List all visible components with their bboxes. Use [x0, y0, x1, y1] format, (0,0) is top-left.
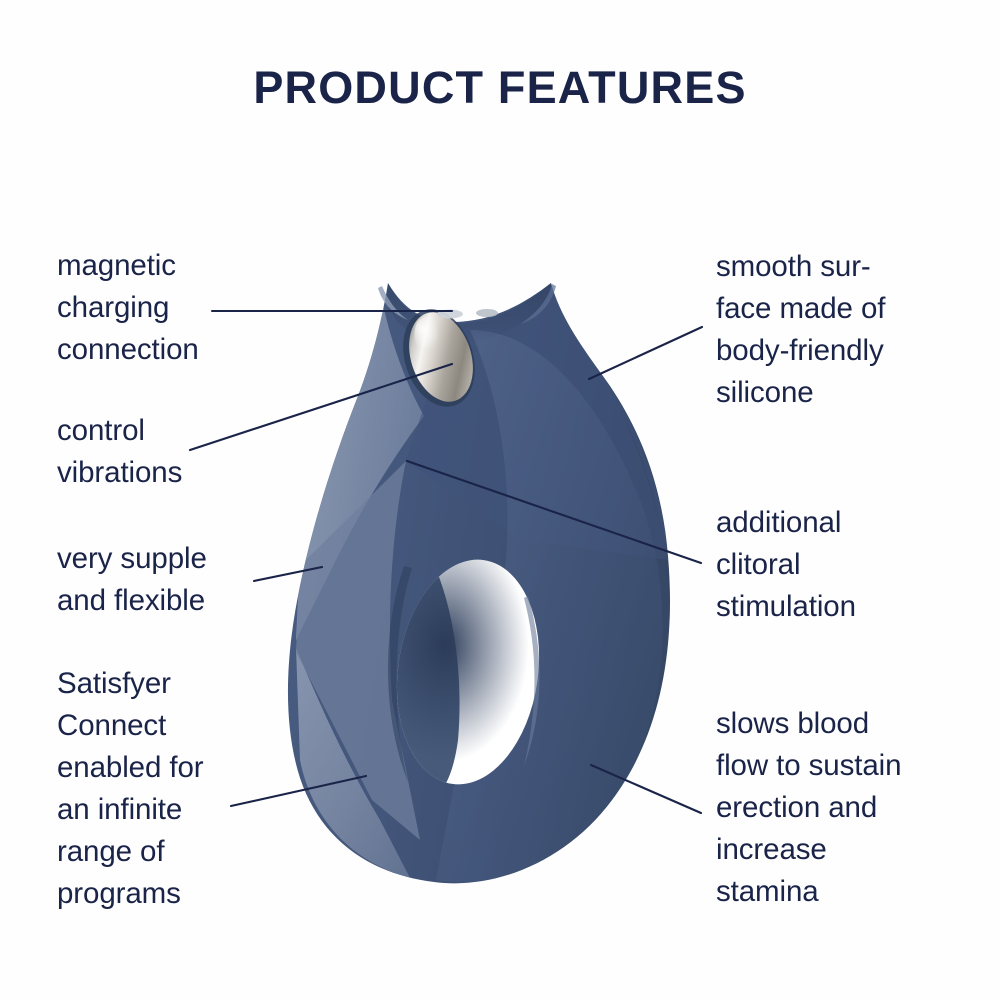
- label-control-vibrations: control vibrations: [57, 410, 182, 494]
- charging-contact-left: [437, 310, 463, 319]
- label-very-supple-and-flexible: very supple and flexible: [57, 538, 207, 622]
- product-body: [288, 283, 672, 883]
- page-title: PRODUCT FEATURES: [0, 62, 1000, 114]
- label-slows-blood-flow: slows blood flow to sustain erection and…: [716, 703, 901, 913]
- charging-contact-right: [476, 309, 498, 317]
- label-satisfyer-connect-programs: Satisfyer Connect enabled for an infinit…: [57, 663, 204, 915]
- label-additional-clitoral-stimulation: additional clitoral stimulation: [716, 502, 856, 628]
- label-smooth-surface-silicone: smooth sur- face made of body-friendly s…: [716, 246, 885, 414]
- label-magnetic-charging-connection: magnetic charging connection: [57, 245, 199, 371]
- product-features-infographic: PRODUCT FEATURES magnetic charging conne…: [0, 0, 1000, 1000]
